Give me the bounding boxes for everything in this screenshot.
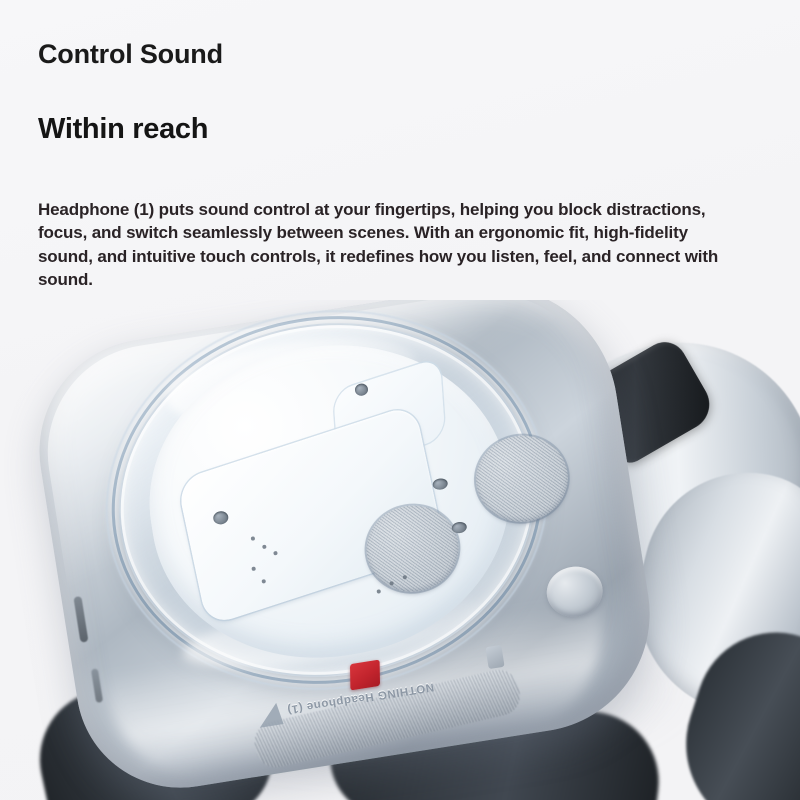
eyebrow-heading: Control Sound — [38, 40, 768, 70]
page-title: Within reach — [38, 114, 768, 146]
product-marketing-page: Control Sound Within reach Headphone (1)… — [0, 0, 800, 800]
grey-indicator-tab — [485, 645, 504, 669]
screw-hole-4 — [451, 521, 468, 534]
grey-triangle-marker — [256, 702, 283, 727]
copy-block: Control Sound Within reach Headphone (1)… — [38, 40, 768, 292]
product-photo: NOTHING Headphone (1) — [0, 300, 800, 800]
screw-hole-3 — [432, 477, 449, 490]
marker-dot-6 — [376, 589, 381, 594]
body-paragraph: Headphone (1) puts sound control at your… — [38, 198, 738, 292]
red-accent-chip — [350, 660, 380, 691]
